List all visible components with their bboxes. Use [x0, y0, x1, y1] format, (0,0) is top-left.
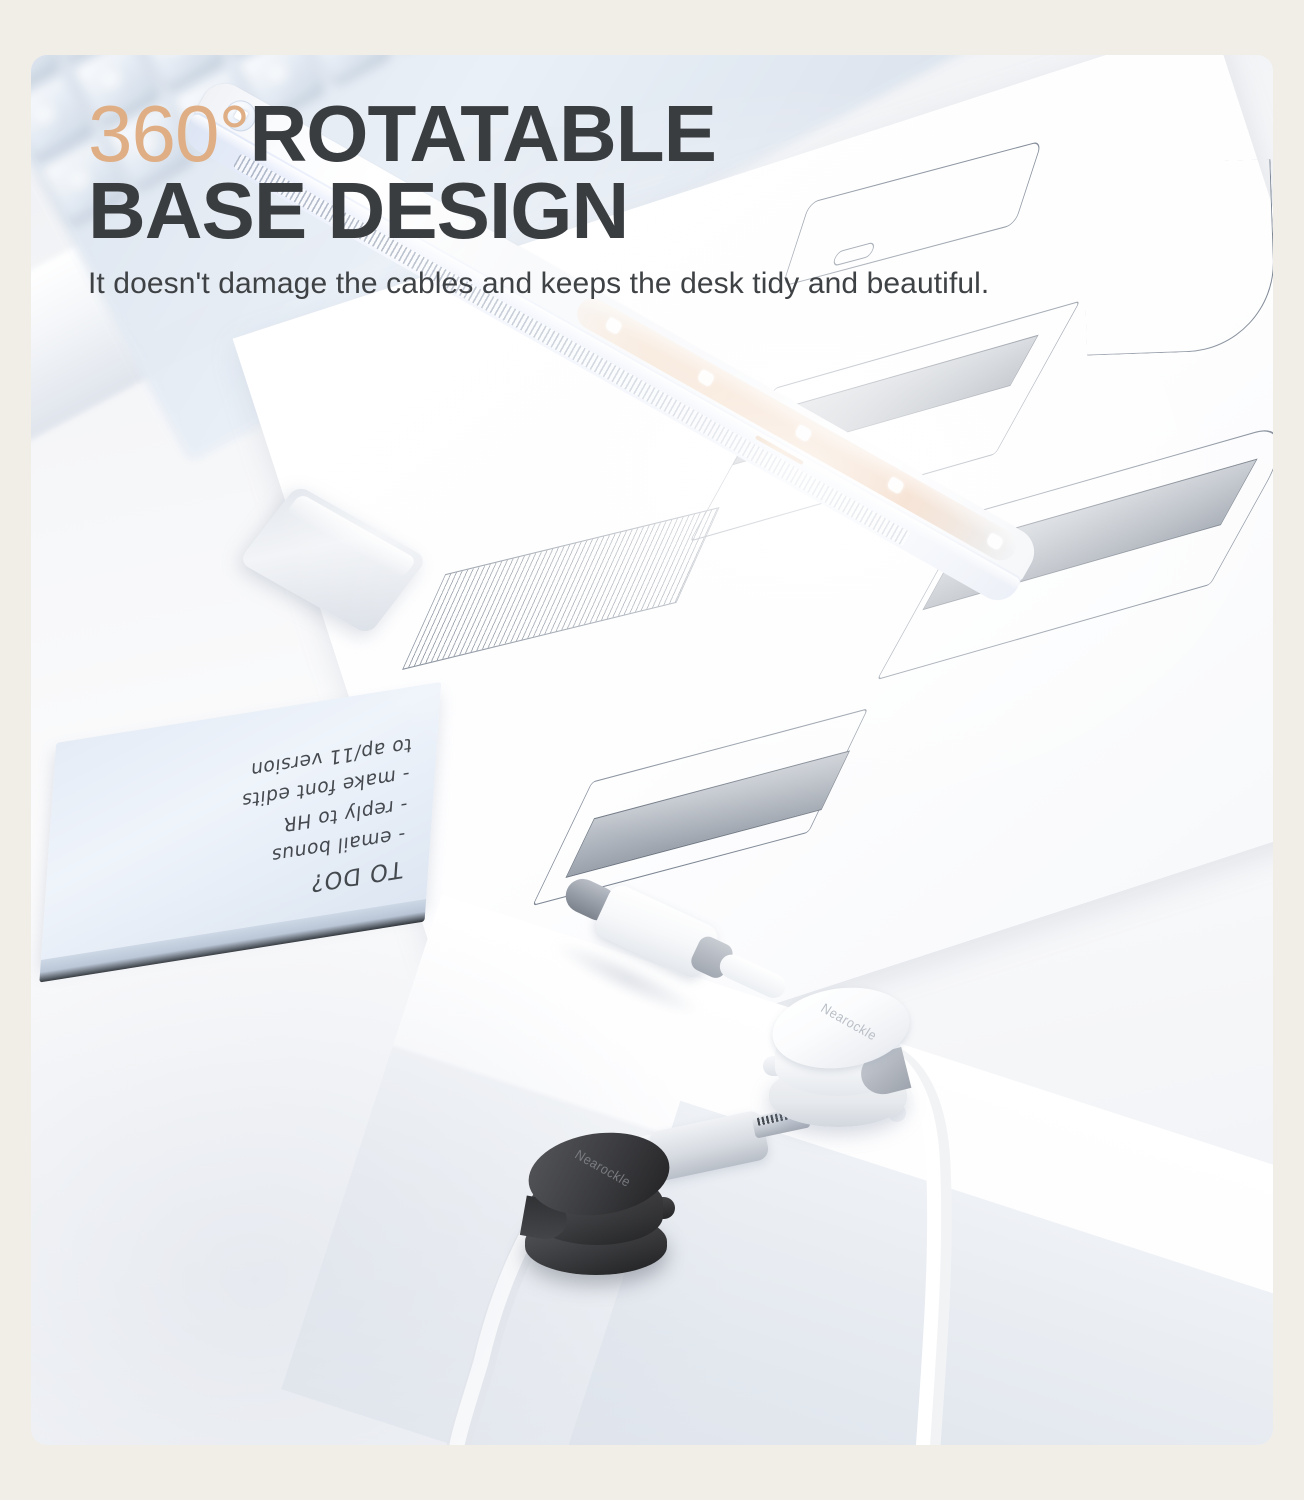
subtitle: It doesn't damage the cables and keeps t… [88, 267, 1188, 301]
product-photo: TO DO? - email bonus - reply to HR - mak… [31, 55, 1273, 1445]
marketing-image-frame: TO DO? - email bonus - reply to HR - mak… [0, 0, 1304, 1500]
headline-line-1: 360°ROTATABLE [88, 95, 1188, 173]
headline-block: 360°ROTATABLE BASE DESIGN It doesn't dam… [88, 95, 1188, 301]
headline-rotatable: ROTATABLE [249, 89, 715, 178]
headline-line-2: BASE DESIGN [88, 169, 1188, 253]
headline-degrees: 360° [88, 89, 249, 178]
